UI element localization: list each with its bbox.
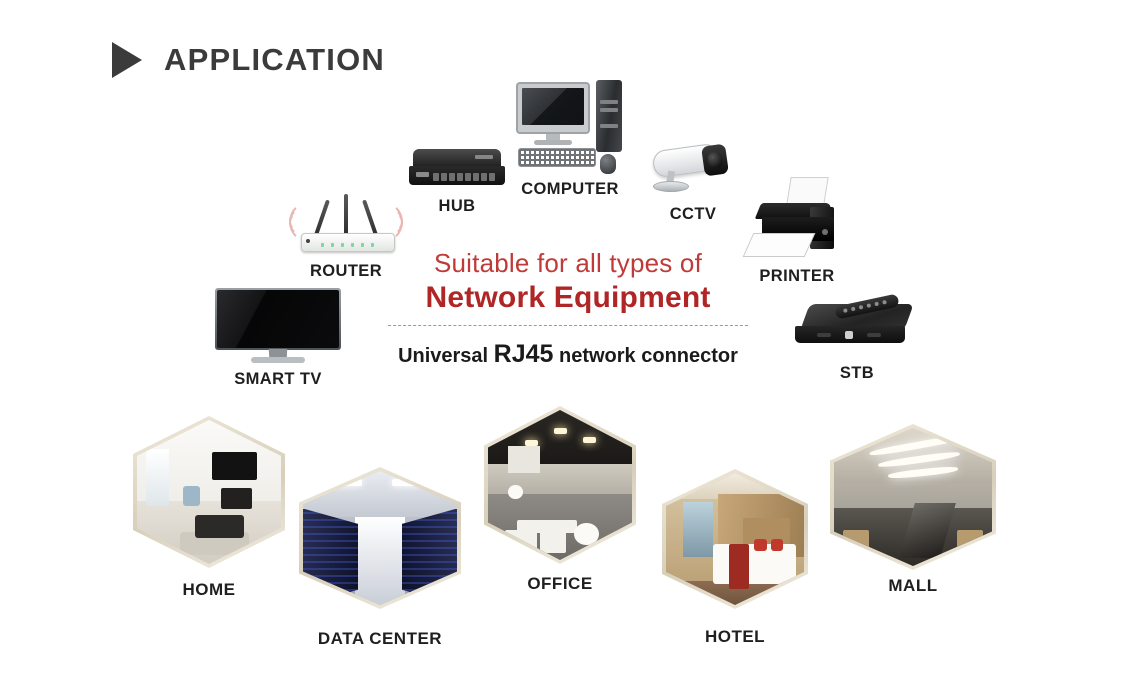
device-label-stb: STB: [840, 364, 874, 383]
venue-node-hotel: HOTEL: [662, 469, 808, 647]
device-node-stb: STB: [793, 298, 921, 383]
hexagon-frame-office[interactable]: [484, 406, 636, 564]
set-top-box-icon: [793, 298, 921, 360]
play-triangle-icon: [112, 42, 142, 78]
dashed-divider: [388, 325, 748, 326]
connector-caption: Universal RJ45 network connector: [388, 340, 748, 369]
page-title: APPLICATION: [164, 42, 385, 78]
hotel-bedroom-photo: [666, 473, 804, 605]
hexagon-frame-datacenter[interactable]: [299, 467, 461, 609]
hexagon-frame-mall[interactable]: [830, 424, 996, 570]
living-room-photo: [137, 420, 281, 564]
device-label-hub: HUB: [439, 197, 476, 216]
device-node-printer: PRINTER: [748, 177, 846, 286]
venue-label-hotel: HOTEL: [662, 627, 808, 647]
venue-node-home: HOME: [133, 416, 285, 600]
venue-node-office: OFFICE: [484, 406, 636, 594]
application-diagram: APPLICATION ROUTER HUB: [0, 0, 1134, 680]
centre-message: Suitable for all types of Network Equipm…: [388, 248, 748, 369]
shopping-mall-atrium-photo: [834, 428, 992, 566]
server-aisle-photo: [303, 471, 457, 605]
security-camera-icon: [645, 133, 741, 201]
connector-caption-suffix: network connector: [553, 345, 737, 367]
device-label-printer: PRINTER: [759, 267, 834, 286]
venue-label-home: HOME: [133, 580, 285, 600]
page-header: APPLICATION: [112, 42, 385, 78]
inkjet-printer-icon: [748, 177, 846, 263]
venue-label-office: OFFICE: [484, 574, 636, 594]
connector-caption-prefix: Universal: [398, 345, 494, 367]
open-plan-office-photo: [488, 410, 632, 560]
venue-label-datacenter: DATA CENTER: [299, 629, 461, 649]
device-label-smarttv: SMART TV: [234, 370, 322, 389]
venue-node-mall: MALL: [830, 424, 996, 596]
device-node-hub: HUB: [409, 143, 505, 216]
hexagon-frame-hotel[interactable]: [662, 469, 808, 609]
tagline-line-2: Network Equipment: [388, 281, 748, 315]
tagline-line-1: Suitable for all types of: [388, 248, 748, 279]
network-switch-icon: [409, 143, 505, 193]
device-label-computer: COMPUTER: [521, 180, 619, 199]
desktop-computer-icon: [516, 80, 624, 176]
device-node-cctv: CCTV: [645, 133, 741, 224]
flat-screen-tv-icon: [215, 288, 341, 366]
connector-caption-highlight: RJ45: [494, 340, 554, 368]
device-node-computer: COMPUTER: [516, 80, 624, 199]
device-label-cctv: CCTV: [670, 205, 717, 224]
hexagon-frame-home[interactable]: [133, 416, 285, 568]
device-node-smarttv: SMART TV: [215, 288, 341, 389]
device-label-router: ROUTER: [310, 262, 382, 281]
venue-label-mall: MALL: [830, 576, 996, 596]
venue-node-datacenter: DATA CENTER: [299, 467, 461, 649]
